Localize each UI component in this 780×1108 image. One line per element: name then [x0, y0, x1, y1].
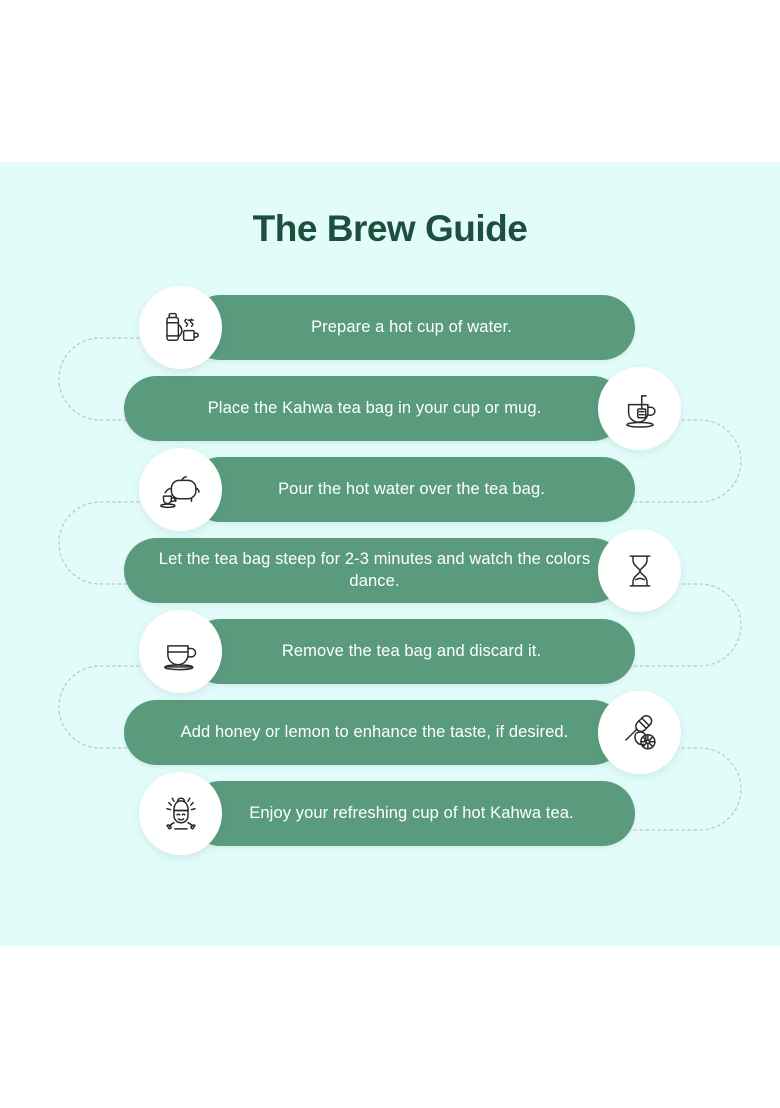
step-row-1[interactable]: Prepare a hot cup of water.	[0, 295, 780, 376]
step-pill-3[interactable]: Pour the hot water over the tea bag.	[188, 457, 635, 522]
step-text-1: Prepare a hot cup of water.	[297, 317, 526, 339]
step-text-3: Pour the hot water over the tea bag.	[264, 479, 559, 501]
step-text-2: Place the Kahwa tea bag in your cup or m…	[194, 398, 556, 420]
teacup-saucer-icon	[139, 610, 222, 693]
step-text-7: Enjoy your refreshing cup of hot Kahwa t…	[235, 803, 587, 825]
happy-celebration-face-icon	[139, 772, 222, 855]
step-pill-4[interactable]: Let the tea bag steep for 2-3 minutes an…	[124, 538, 625, 603]
step-pill-6[interactable]: Add honey or lemon to enhance the taste,…	[124, 700, 625, 765]
honey-dipper-lemon-icon	[598, 691, 681, 774]
teacup-with-tea-bag-icon	[598, 367, 681, 450]
steps-list: Prepare a hot cup of water.	[0, 295, 780, 862]
step-row-7[interactable]: Enjoy your refreshing cup of hot Kahwa t…	[0, 781, 780, 862]
step-pill-2[interactable]: Place the Kahwa tea bag in your cup or m…	[124, 376, 625, 441]
step-text-6: Add honey or lemon to enhance the taste,…	[167, 722, 583, 744]
step-text-5: Remove the tea bag and discard it.	[268, 641, 555, 663]
step-row-2[interactable]: Place the Kahwa tea bag in your cup or m…	[0, 376, 780, 457]
step-pill-5[interactable]: Remove the tea bag and discard it.	[188, 619, 635, 684]
step-row-3[interactable]: Pour the hot water over the tea bag.	[0, 457, 780, 538]
step-text-4: Let the tea bag steep for 2-3 minutes an…	[124, 549, 625, 593]
page-title: The Brew Guide	[0, 208, 780, 250]
teapot-pouring-icon	[139, 448, 222, 531]
step-row-5[interactable]: Remove the tea bag and discard it.	[0, 619, 780, 700]
brew-guide-infographic: The Brew Guide	[0, 0, 780, 1108]
thermos-flask-and-mug-icon	[139, 286, 222, 369]
step-pill-1[interactable]: Prepare a hot cup of water.	[188, 295, 635, 360]
infographic-panel: The Brew Guide	[0, 162, 780, 946]
hourglass-icon	[598, 529, 681, 612]
step-pill-7[interactable]: Enjoy your refreshing cup of hot Kahwa t…	[188, 781, 635, 846]
step-row-4[interactable]: Let the tea bag steep for 2-3 minutes an…	[0, 538, 780, 619]
step-row-6[interactable]: Add honey or lemon to enhance the taste,…	[0, 700, 780, 781]
